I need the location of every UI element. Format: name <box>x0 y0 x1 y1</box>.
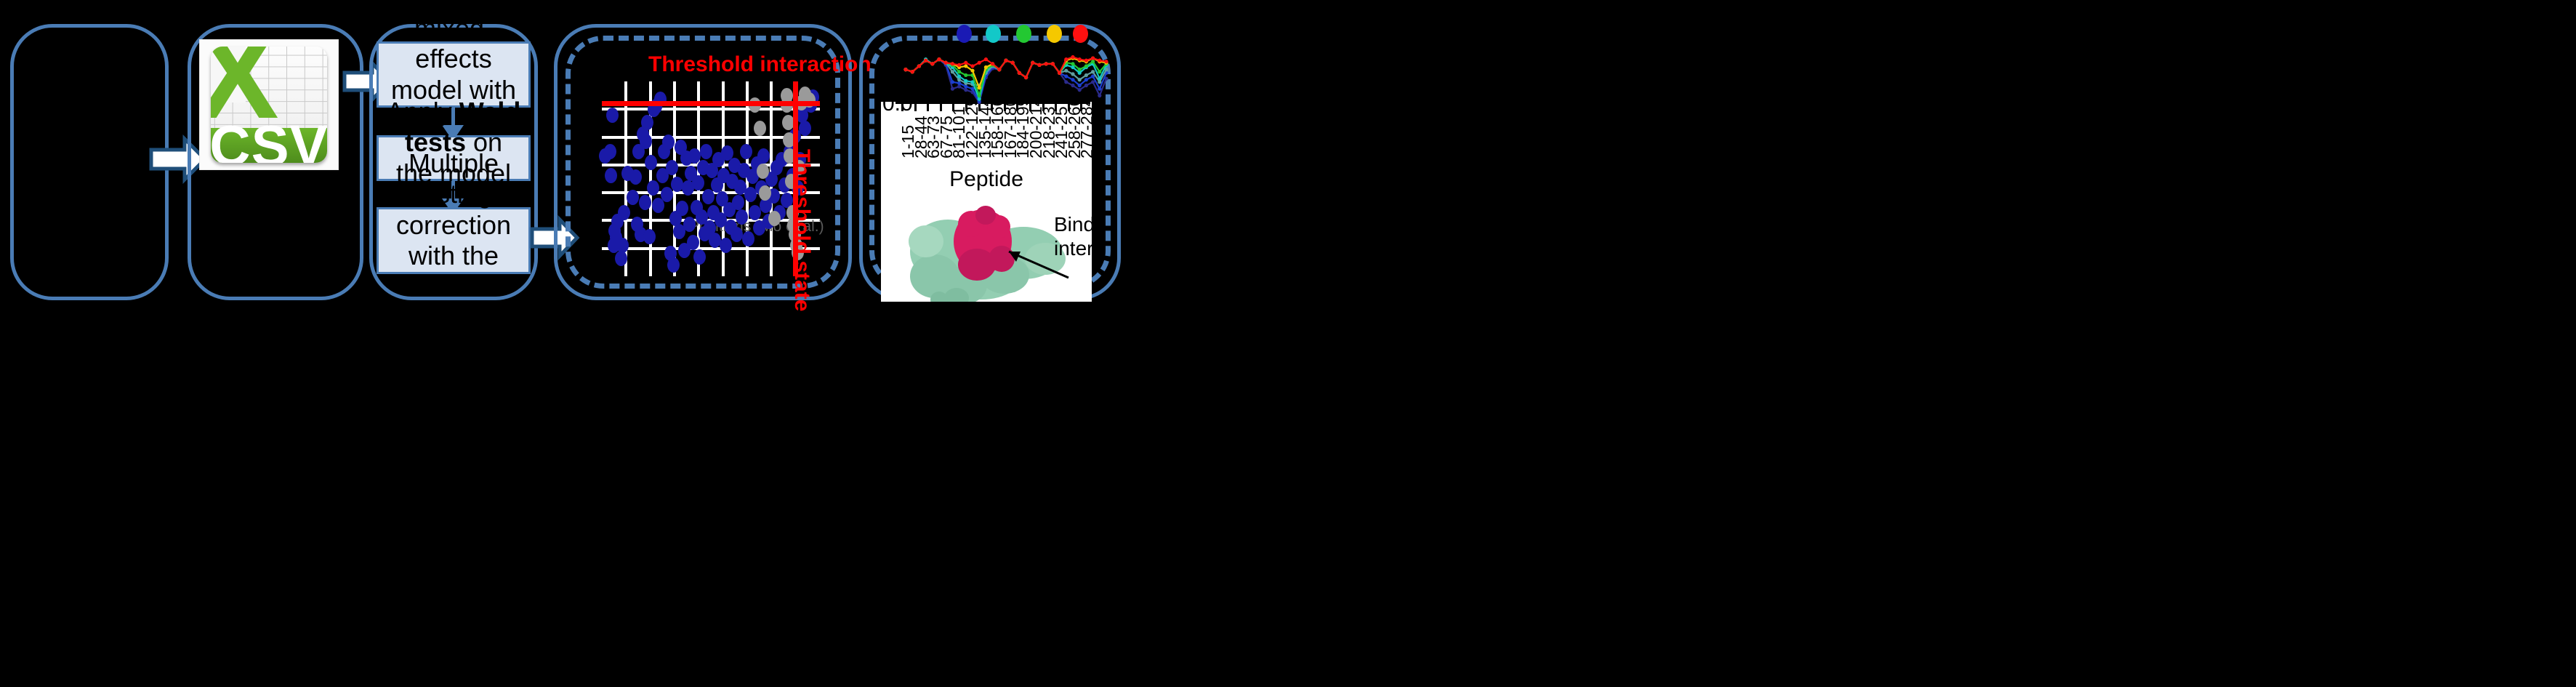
line-point <box>1064 57 1068 61</box>
binding-interface-label: Binding interface <box>1054 212 1092 260</box>
line-point <box>1091 60 1095 63</box>
line-point <box>1091 70 1095 73</box>
panel-input-empty <box>10 24 169 300</box>
line-point <box>964 73 967 77</box>
csv-label: CSV <box>211 113 327 164</box>
line-point <box>1011 61 1015 65</box>
line-point <box>984 57 988 61</box>
scatter-point <box>720 238 732 253</box>
scatter-point <box>768 211 781 226</box>
scatter-point <box>687 235 699 250</box>
line-point <box>970 69 974 73</box>
scatter-point <box>676 201 688 216</box>
line-point <box>1084 73 1088 77</box>
line-point <box>957 78 961 81</box>
scatter-point <box>683 217 696 232</box>
line-point <box>1024 76 1028 79</box>
peptide-tick-label: 277-284 <box>1077 102 1092 158</box>
line-point <box>1071 62 1074 65</box>
scatter-point <box>700 144 712 159</box>
line-point <box>1098 80 1101 84</box>
line-point <box>944 61 948 65</box>
line-point <box>1078 57 1082 61</box>
scatter-point <box>641 115 653 130</box>
scatter-point <box>732 195 744 210</box>
excel-x-icon: X <box>214 49 261 103</box>
line-point <box>964 79 967 83</box>
line-point <box>1018 71 1021 75</box>
line-point <box>978 86 981 89</box>
multiple-testing-text: Multiple testingcorrectionwith the BH pr… <box>386 148 521 334</box>
scatter-point <box>606 108 619 123</box>
peptide-surface <box>954 206 1015 281</box>
legend-color-dot <box>957 25 972 43</box>
legend-color-dot <box>1047 25 1062 43</box>
line-point <box>951 70 954 73</box>
line-point <box>1091 56 1095 60</box>
scatter-point <box>730 227 743 242</box>
text-line: Fit a linear mixed- <box>386 0 521 44</box>
scatter-point <box>702 189 715 204</box>
scatter-point <box>693 249 706 265</box>
line-point <box>957 81 961 85</box>
line-point <box>984 65 988 69</box>
line-point <box>978 94 981 97</box>
line-point <box>1078 78 1082 81</box>
scatter-point <box>627 190 639 205</box>
scatter-point <box>616 238 629 253</box>
line-point <box>1071 78 1074 81</box>
grid-line-horizontal <box>602 247 820 250</box>
csv-band: CSV <box>211 128 327 163</box>
line-point <box>917 64 921 68</box>
line-point <box>1084 59 1088 63</box>
scatter-point <box>605 168 617 183</box>
line-point <box>1104 60 1108 63</box>
line-point <box>1031 61 1034 65</box>
line-point <box>930 62 934 65</box>
line-point <box>911 70 914 73</box>
scatter-point <box>754 121 766 136</box>
line-point <box>951 87 954 91</box>
threshold-state-label: Threshold state <box>789 149 814 311</box>
line-point <box>1098 94 1101 97</box>
scatter-point <box>757 164 769 179</box>
line-point <box>937 57 941 61</box>
threshold-interaction-label: Threshold interaction <box>648 52 872 77</box>
line-point <box>1098 77 1101 81</box>
scatter-point <box>643 229 656 244</box>
line-point <box>1071 55 1074 59</box>
line-point <box>951 80 954 84</box>
line-series <box>906 60 1106 102</box>
scatter-point <box>661 187 673 202</box>
line-point <box>957 74 961 78</box>
line-point <box>964 64 967 68</box>
line-point <box>997 68 1001 71</box>
line-point <box>964 88 967 92</box>
scatter-point <box>618 205 630 220</box>
scatter-point <box>740 144 752 159</box>
line-point <box>951 62 954 65</box>
csv-card: X CSV <box>211 47 327 163</box>
binding-label-line1: Binding <box>1054 212 1092 236</box>
text-line: with the BH procedure <box>386 241 521 333</box>
scatter-figure: Threshold interaction Positions (Mo et a… <box>574 44 832 281</box>
text-line: correction <box>386 210 521 241</box>
line-point <box>957 63 961 67</box>
line-point <box>978 61 981 65</box>
line-point <box>957 84 961 88</box>
line-point <box>1098 70 1101 73</box>
line-point <box>964 84 967 88</box>
structure-white-panel: Peptide 0.0 <box>881 102 1092 302</box>
line-point <box>1064 74 1068 78</box>
line-series <box>906 60 1106 100</box>
csv-file-icon: X CSV <box>200 40 338 169</box>
line-series <box>906 60 1106 86</box>
line-point <box>991 62 994 65</box>
line-point <box>1078 68 1082 71</box>
text-line: Multiple testing <box>386 148 521 210</box>
line-point <box>1071 72 1074 76</box>
peptide-line-chart <box>893 41 1111 108</box>
binding-label-line2: interface <box>1054 236 1092 260</box>
line-point <box>1098 87 1101 91</box>
scatter-point <box>639 195 651 210</box>
line-point <box>1084 64 1088 68</box>
scatter-point <box>742 231 754 246</box>
scatter-point <box>666 160 678 175</box>
scatter-point <box>645 155 657 170</box>
legend-color-dot <box>986 25 1001 43</box>
line-point <box>1078 84 1082 87</box>
legend-color-dot <box>1016 25 1031 43</box>
scatter-point <box>604 144 616 159</box>
scatter-point <box>640 134 652 149</box>
multiple-testing-box: Multiple testingcorrectionwith the BH pr… <box>377 207 531 274</box>
line-point <box>1071 84 1074 87</box>
scatter-plot-area: Positions (Mo et al.) <box>602 81 820 276</box>
line-point <box>1051 62 1055 65</box>
line-point <box>1091 80 1095 84</box>
scatter-point <box>647 180 659 196</box>
scatter-point <box>799 121 811 136</box>
peptide-axis-label: Peptide <box>881 167 1092 192</box>
line-point <box>924 59 927 63</box>
line-point <box>1084 78 1088 81</box>
scatter-point <box>629 169 642 185</box>
line-point <box>957 70 961 73</box>
line-chart-svg <box>893 41 1111 108</box>
line-point <box>964 61 967 65</box>
protein-structure-render <box>895 189 1070 302</box>
line-point <box>1098 59 1101 63</box>
line-point <box>970 64 974 68</box>
legend-color-dot <box>1073 25 1088 43</box>
line-point <box>1064 69 1068 73</box>
line-point <box>1004 59 1007 63</box>
scatter-point <box>692 175 704 190</box>
flowchart-canvas: X CSV Fit a linear mixed-effects model w… <box>0 0 2576 687</box>
line-point <box>1078 88 1082 92</box>
line-point <box>1037 63 1041 67</box>
line-point <box>1058 71 1061 75</box>
line-point <box>1084 84 1088 87</box>
scatter-point <box>757 148 770 164</box>
scatter-point <box>667 257 680 273</box>
line-point <box>903 68 907 71</box>
line-point <box>1045 62 1048 65</box>
threshold-interaction-line <box>602 101 820 106</box>
line-point <box>1078 71 1082 75</box>
line-point <box>1064 80 1068 84</box>
